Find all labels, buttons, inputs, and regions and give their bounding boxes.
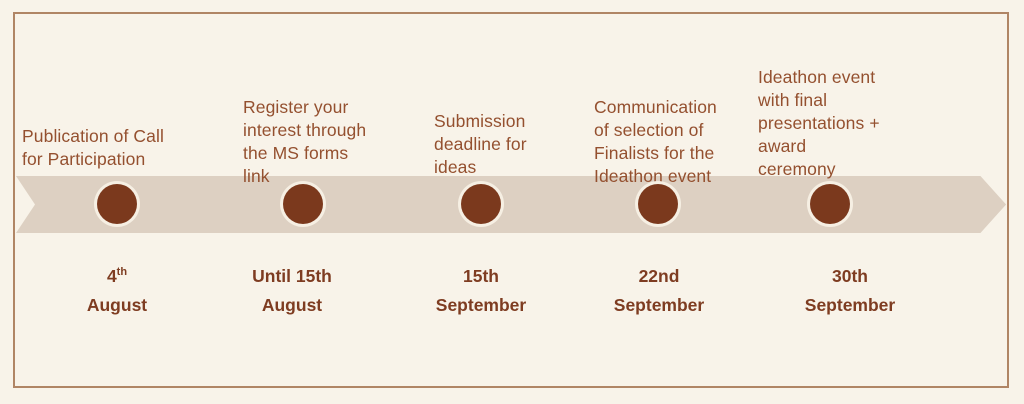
timeline-arrow [16,176,1006,233]
timeline-diagram: Publication of Call for Participation 4t… [0,0,1024,404]
milestone-5-day: 30th [730,262,970,291]
milestone-5-description: Ideathon event with final presentations … [758,66,918,181]
milestone-5-month: September [730,291,970,320]
milestone-2-description: Register your interest through the MS fo… [243,96,403,188]
milestone-4-node[interactable] [638,184,678,224]
milestone-2-node[interactable] [283,184,323,224]
milestone-3-description: Submission deadline for ideas [434,110,594,179]
milestone-5-date: 30th September [730,262,970,321]
milestone-5-node[interactable] [810,184,850,224]
milestone-1-day-suffix: th [117,266,127,278]
milestone-1-description: Publication of Call for Participation [22,125,212,171]
milestone-3-node[interactable] [461,184,501,224]
arrow-shape [16,176,1006,233]
milestone-1-node[interactable] [97,184,137,224]
milestone-4-description: Communication of selection of Finalists … [594,96,764,188]
arrow-head [980,176,1006,233]
